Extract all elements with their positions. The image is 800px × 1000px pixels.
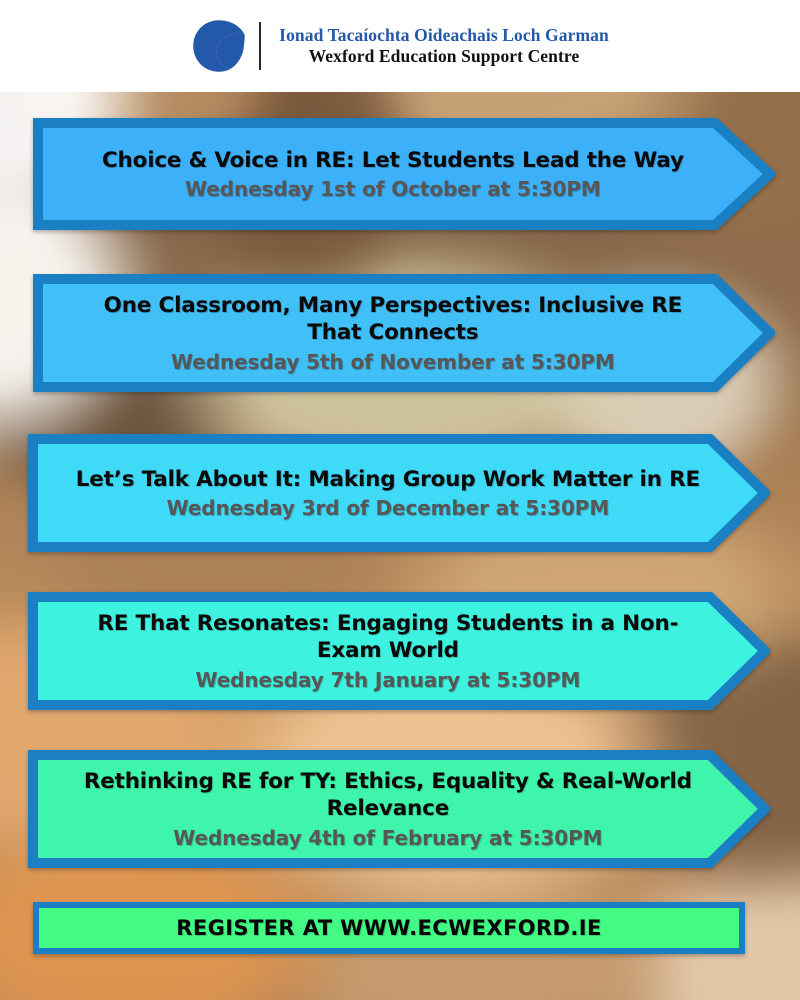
- event-banner[interactable]: RE That Resonates: Engaging Students in …: [28, 592, 770, 710]
- logo-english-name: Wexford Education Support Centre: [279, 46, 609, 67]
- event-date: Wednesday 1st of October at 5:30PM: [74, 177, 712, 201]
- event-banner[interactable]: Rethinking RE for TY: Ethics, Equality &…: [28, 750, 770, 868]
- logo-text-block: Ionad Tacaíochta Oideachais Loch Garman …: [279, 25, 609, 66]
- logo-divider: [259, 22, 261, 70]
- register-bar[interactable]: REGISTER AT WWW.ECWEXFORD.IE: [33, 902, 745, 954]
- event-title: Rethinking RE for TY: Ethics, Equality &…: [69, 768, 707, 823]
- logo-lockup: Ionad Tacaíochta Oideachais Loch Garman …: [191, 18, 609, 74]
- event-title: RE That Resonates: Engaging Students in …: [69, 610, 707, 665]
- event-banner-list: Choice & Voice in RE: Let Students Lead …: [0, 92, 800, 1000]
- event-date: Wednesday 7th January at 5:30PM: [69, 668, 707, 692]
- event-title: Choice & Voice in RE: Let Students Lead …: [74, 147, 712, 175]
- register-bar-inner: REGISTER AT WWW.ECWEXFORD.IE: [39, 908, 739, 948]
- event-title: Let’s Talk About It: Making Group Work M…: [69, 466, 707, 494]
- event-date: Wednesday 5th of November at 5:30PM: [74, 350, 712, 374]
- event-date: Wednesday 4th of February at 5:30PM: [69, 826, 707, 850]
- event-banner[interactable]: One Classroom, Many Perspectives: Inclus…: [33, 274, 775, 392]
- event-date: Wednesday 3rd of December at 5:30PM: [69, 496, 707, 520]
- header-logo-band: Ionad Tacaíochta Oideachais Loch Garman …: [0, 0, 800, 92]
- register-label: REGISTER AT WWW.ECWEXFORD.IE: [176, 916, 601, 940]
- event-banner-text: Rethinking RE for TY: Ethics, Equality &…: [69, 768, 729, 850]
- event-banner-text: RE That Resonates: Engaging Students in …: [69, 610, 729, 692]
- event-banner[interactable]: Let’s Talk About It: Making Group Work M…: [28, 434, 770, 552]
- crescent-c-logo-icon: [191, 18, 247, 74]
- poster-canvas: Ionad Tacaíochta Oideachais Loch Garman …: [0, 0, 800, 1000]
- logo-irish-name: Ionad Tacaíochta Oideachais Loch Garman: [279, 25, 609, 46]
- event-banner-text: Let’s Talk About It: Making Group Work M…: [69, 466, 729, 521]
- event-title: One Classroom, Many Perspectives: Inclus…: [74, 292, 712, 347]
- event-banner-text: One Classroom, Many Perspectives: Inclus…: [74, 292, 734, 374]
- event-banner[interactable]: Choice & Voice in RE: Let Students Lead …: [33, 118, 775, 230]
- event-banner-text: Choice & Voice in RE: Let Students Lead …: [74, 147, 734, 202]
